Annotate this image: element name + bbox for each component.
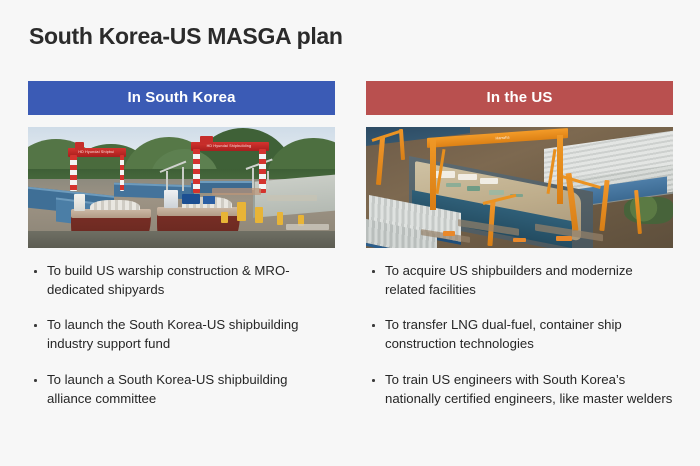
yard-equipment [212,188,261,195]
column-united-states: In the US [366,81,673,424]
bullet-dot-icon [34,270,37,273]
mobile-crane [277,212,283,225]
list-item-text: To build US warship construction & MRO-d… [47,263,290,297]
crane-leg [259,149,266,193]
mobile-crane [556,236,571,241]
mobile-crane [237,202,246,221]
list-item: To transfer LNG dual-fuel, container shi… [366,316,673,353]
photo-us-shipyard: Hanwha [366,127,673,248]
mobile-crane [513,238,525,242]
bullet-dot-icon [372,270,375,273]
crane-leg [70,155,77,191]
quay [28,231,335,248]
container-block [203,196,215,204]
ship-superstructure [164,190,178,208]
yard-equipment [286,224,329,230]
mobile-crane [443,231,455,236]
crane-cab [75,142,84,150]
list-item: To train US engineers with South Korea’s… [366,371,673,408]
mobile-crane [221,212,227,223]
goliath-crane: HD Hyundai Shipbuilding [68,148,126,184]
ship-superstructure [74,194,84,211]
bullet-list-united-states: To acquire US shipbuilders and modernize… [366,262,673,408]
bullet-dot-icon [34,379,37,382]
column-header-south-korea: In South Korea [28,81,335,115]
list-item: To launch the South Korea-US shipbuildin… [28,316,335,353]
crane-cab [200,136,212,144]
bullet-dot-icon [372,324,375,327]
container-block [182,194,200,205]
infographic-root: South Korea-US MASGA plan In South Korea [0,0,700,466]
crane-leg [430,139,436,210]
list-item-text: To train US engineers with South Korea’s… [385,372,672,406]
mobile-crane [255,207,263,223]
list-item-text: To launch the South Korea-US shipbuildin… [47,317,298,351]
column-south-korea: In South Korea [28,81,335,424]
tower-crane [182,167,184,191]
page-title: South Korea-US MASGA plan [29,23,343,50]
crane-brace [547,149,557,194]
list-item: To launch a South Korea-US shipbuilding … [28,371,335,408]
photo-south-korea-shipyard: HD Hyundai Shipbuilding HD Hyundai Shipb… [28,127,335,248]
trees [624,197,673,224]
list-item: To build US warship construction & MRO-d… [28,262,335,299]
bullet-list-south-korea: To build US warship construction & MRO-d… [28,262,335,408]
list-item: To acquire US shipbuilders and modernize… [366,262,673,299]
goliath-crane: HD Hyundai Shipbuilding [191,142,269,186]
list-item-text: To launch a South Korea-US shipbuilding … [47,372,287,406]
tower-crane [166,171,168,190]
bullet-dot-icon [372,379,375,382]
crane-leg [120,155,124,191]
crane-leg [193,149,200,193]
columns-container: In South Korea [28,81,672,424]
list-item-text: To transfer LNG dual-fuel, container shi… [385,317,622,351]
ship-cargo-tanks [90,200,139,210]
crane-leg [557,135,563,204]
column-header-united-states: In the US [366,81,673,115]
crane-brace [435,149,445,194]
list-item-text: To acquire US shipbuilders and modernize… [385,263,633,297]
bullet-dot-icon [34,324,37,327]
goliath-crane: Hanwha [427,133,568,208]
yard-equipment [267,195,316,201]
